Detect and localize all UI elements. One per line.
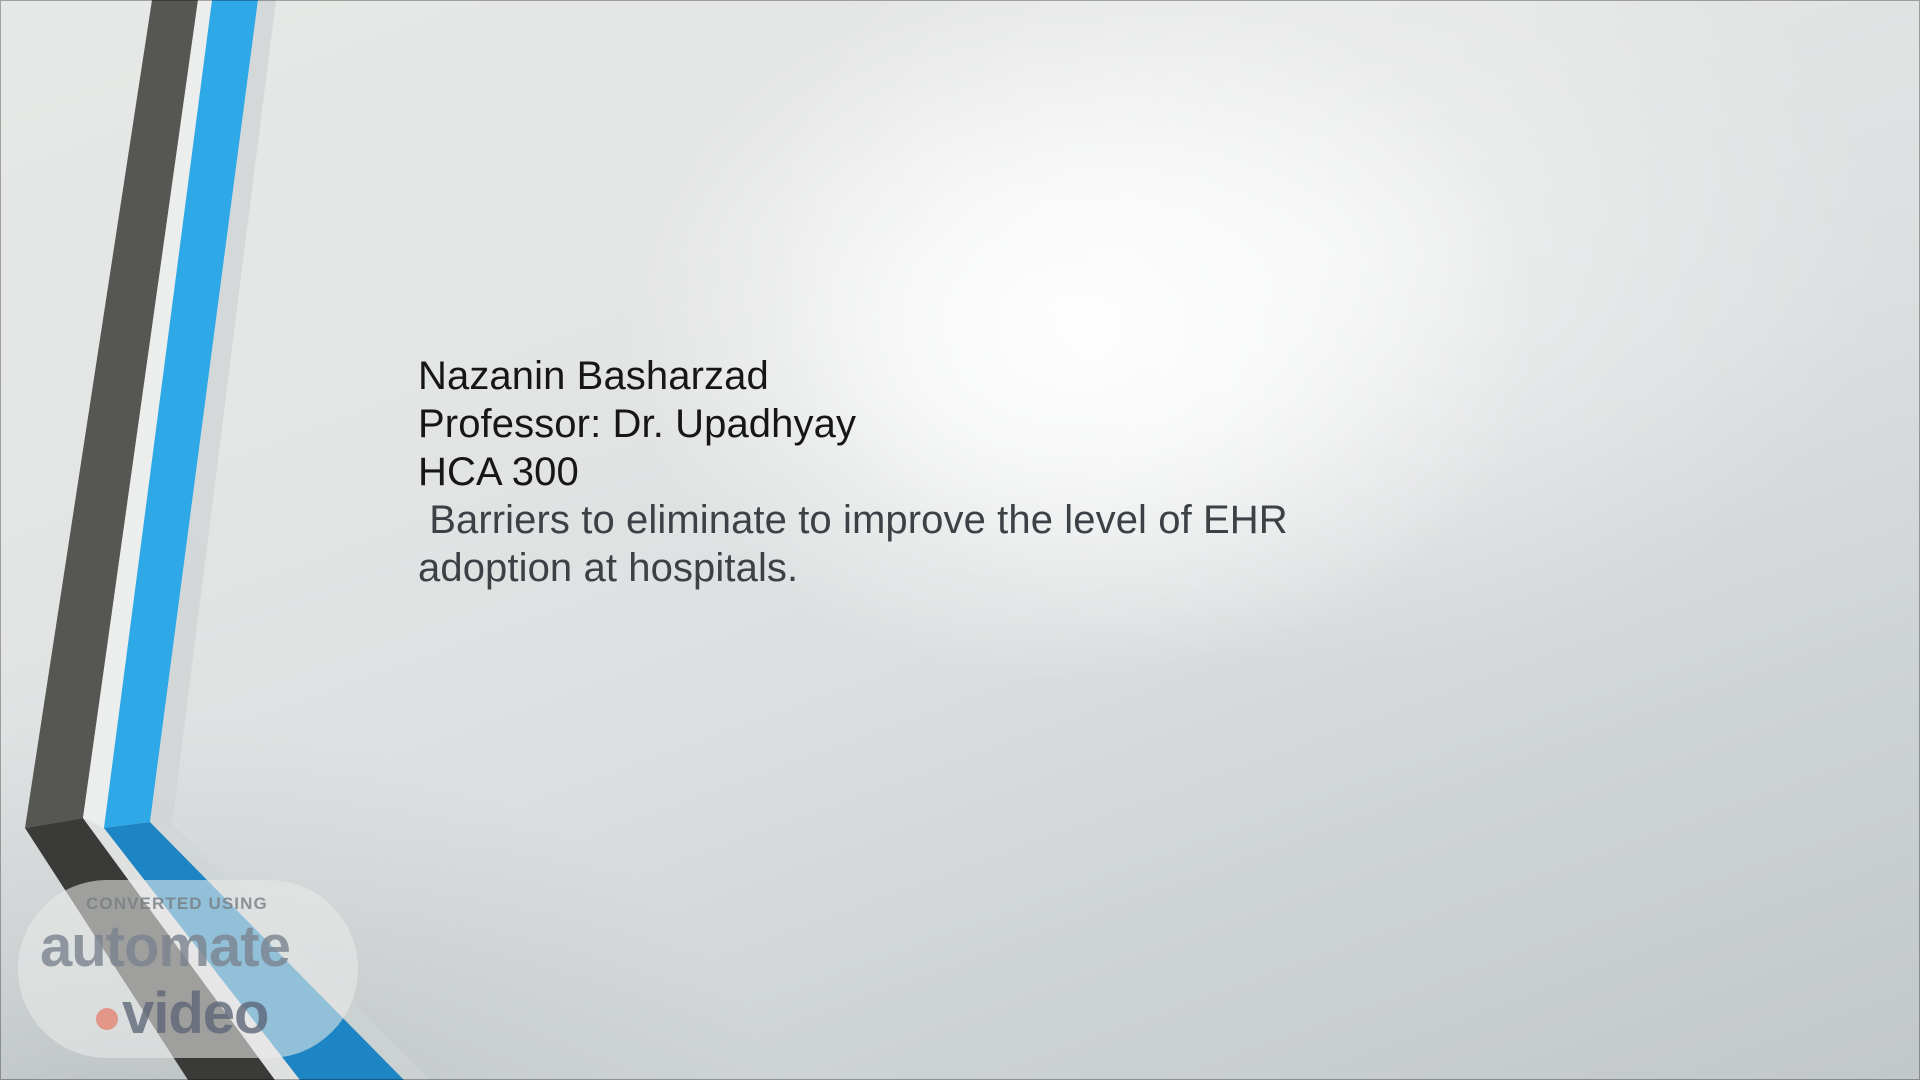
text-line-4: Barriers to eliminate to improve the lev… xyxy=(418,496,1518,544)
slide-body-text: Nazanin Basharzad Professor: Dr. Upadhya… xyxy=(418,352,1518,592)
presentation-slide: Nazanin Basharzad Professor: Dr. Upadhya… xyxy=(0,0,1920,1080)
text-line-5: adoption at hospitals. xyxy=(418,544,1518,592)
text-line-2: Professor: Dr. Upadhyay xyxy=(418,400,1518,448)
text-line-1: Nazanin Basharzad xyxy=(418,352,1518,400)
text-line-3: HCA 300 xyxy=(418,448,1518,496)
